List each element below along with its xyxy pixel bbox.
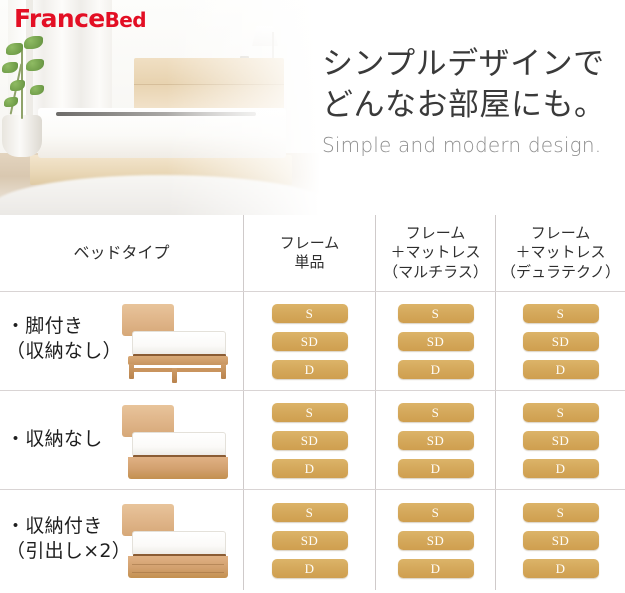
- bed-drawer-box: [128, 556, 228, 578]
- bed-drawer-seam: [132, 564, 224, 565]
- bed-leg: [221, 364, 226, 379]
- header-cell-frame-mattress-duratechno: フレーム ＋マットレス （デュラテクノ）: [495, 215, 625, 291]
- size-pill-s[interactable]: S: [272, 304, 348, 323]
- row-label: ・脚付き （収納なし）: [6, 314, 122, 363]
- size-pill-d[interactable]: D: [523, 459, 599, 478]
- bed-with-drawers-image: [108, 498, 240, 582]
- header-cell-frame-only: フレーム 単品: [243, 215, 375, 291]
- size-pill-d[interactable]: D: [272, 559, 348, 578]
- cell-frame-only: S SD D: [243, 490, 375, 590]
- header-label-frame-mattress-multilas: フレーム ＋マットレス （マルチラス）: [383, 224, 488, 282]
- bed-mattress: [132, 432, 226, 457]
- bed-mattress: [132, 531, 226, 556]
- table-row: ・収納付き （引出し×2） S SD D S SD D S SD D: [0, 490, 625, 590]
- header-label-frame-only: フレーム 単品: [280, 234, 340, 272]
- hero-headline-line1: シンプルデザインで: [322, 44, 622, 85]
- hero-banner: FranceBed シンプルデザインで どんなお部屋にも。 Simple and…: [0, 0, 625, 215]
- row-type-cell: ・収納付き （引出し×2）: [0, 490, 243, 590]
- row-type-cell: ・収納なし: [0, 391, 243, 489]
- size-pill-sd[interactable]: SD: [398, 332, 474, 351]
- header-cell-bed-type: ベッドタイプ: [0, 215, 243, 291]
- size-pill-sd[interactable]: SD: [398, 431, 474, 450]
- bed-base-box: [128, 457, 228, 479]
- logo-text-france: France: [14, 4, 105, 33]
- bed-leg: [129, 364, 134, 379]
- bed-drawer-seam: [132, 572, 224, 573]
- size-pill-sd[interactable]: SD: [398, 531, 474, 550]
- size-pill-d[interactable]: D: [398, 360, 474, 379]
- size-pill-sd[interactable]: SD: [523, 431, 599, 450]
- size-pill-sd[interactable]: SD: [272, 332, 348, 351]
- logo-text-bed: Bed: [105, 8, 146, 32]
- size-pill-s[interactable]: S: [398, 304, 474, 323]
- cell-frame-mattress-multilas: S SD D: [375, 391, 495, 489]
- size-pill-sd[interactable]: SD: [523, 531, 599, 550]
- size-pill-d[interactable]: D: [398, 559, 474, 578]
- bed-leg: [172, 368, 177, 383]
- row-label: ・収納なし: [6, 427, 103, 452]
- hero-subheadline: Simple and modern design.: [322, 133, 622, 157]
- cell-frame-mattress-duratechno: S SD D: [495, 292, 625, 390]
- size-pill-sd[interactable]: SD: [272, 431, 348, 450]
- bed-frame: [128, 356, 228, 365]
- cell-frame-only: S SD D: [243, 391, 375, 489]
- cell-frame-only: S SD D: [243, 292, 375, 390]
- size-pill-sd[interactable]: SD: [523, 332, 599, 351]
- size-pill-d[interactable]: D: [398, 459, 474, 478]
- cell-frame-mattress-multilas: S SD D: [375, 490, 495, 590]
- size-pill-d[interactable]: D: [272, 360, 348, 379]
- size-pill-s[interactable]: S: [398, 503, 474, 522]
- size-pill-s[interactable]: S: [272, 503, 348, 522]
- cell-frame-mattress-duratechno: S SD D: [495, 391, 625, 489]
- hero-copy: シンプルデザインで どんなお部屋にも。 Simple and modern de…: [322, 44, 622, 157]
- bed-legs-no-storage-image: [108, 298, 240, 382]
- header-cell-frame-mattress-multilas: フレーム ＋マットレス （マルチラス）: [375, 215, 495, 291]
- size-pill-d[interactable]: D: [272, 459, 348, 478]
- size-pill-sd[interactable]: SD: [272, 531, 348, 550]
- size-pill-s[interactable]: S: [272, 403, 348, 422]
- bed-type-spec-table: ベッドタイプ フレーム 単品 フレーム ＋マットレス （マルチラス） フレーム …: [0, 215, 625, 593]
- hero-headline-line2: どんなお部屋にも。: [322, 85, 622, 126]
- row-type-cell: ・脚付き （収納なし）: [0, 292, 243, 390]
- bed-no-storage-image: [108, 399, 240, 483]
- size-pill-d[interactable]: D: [523, 360, 599, 379]
- size-pill-s[interactable]: S: [523, 503, 599, 522]
- size-pill-s[interactable]: S: [523, 304, 599, 323]
- size-pill-s[interactable]: S: [523, 403, 599, 422]
- size-pill-d[interactable]: D: [523, 559, 599, 578]
- table-row: ・収納なし S SD D S SD D S SD D: [0, 391, 625, 490]
- table-header-row: ベッドタイプ フレーム 単品 フレーム ＋マットレス （マルチラス） フレーム …: [0, 215, 625, 292]
- cell-frame-mattress-duratechno: S SD D: [495, 490, 625, 590]
- cell-frame-mattress-multilas: S SD D: [375, 292, 495, 390]
- bed-rail: [130, 368, 226, 372]
- table-row: ・脚付き （収納なし） S SD D S SD D S SD: [0, 292, 625, 391]
- header-label-bed-type: ベッドタイプ: [0, 243, 243, 263]
- size-pill-s[interactable]: S: [398, 403, 474, 422]
- francebed-logo[interactable]: FranceBed: [14, 6, 146, 31]
- bed-mattress: [132, 331, 226, 356]
- header-label-frame-mattress-duratechno: フレーム ＋マットレス （デュラテクノ）: [501, 224, 620, 282]
